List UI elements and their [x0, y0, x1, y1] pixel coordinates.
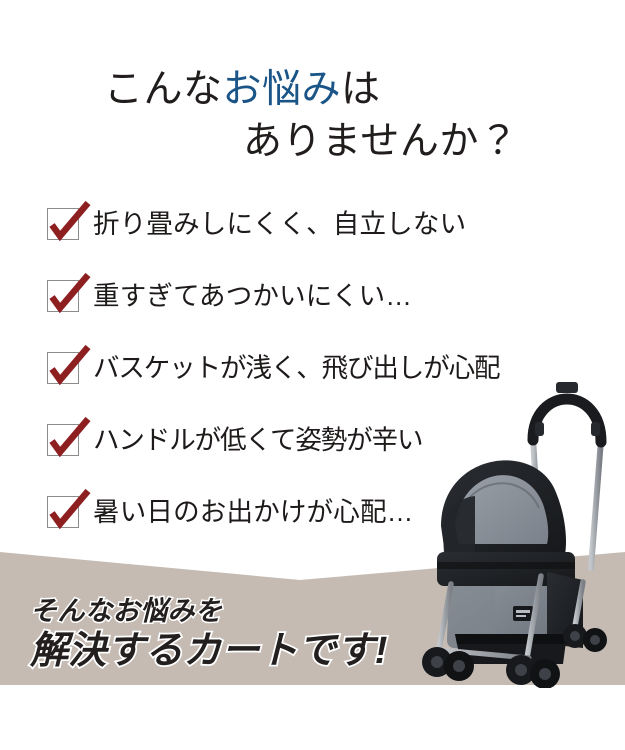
page-headline: こんなお悩みは ありませんか？ [0, 64, 625, 184]
checked-checkbox-icon [47, 280, 79, 312]
headline-line1-post: は [341, 68, 381, 111]
promo-page: こんなお悩みは ありませんか？ 折り畳みしにくく、自立しない 重すぎてあつかいに… [0, 0, 625, 750]
checklist-item-label: 重すぎてあつかいにくい… [93, 281, 412, 311]
checklist-item: 折り畳みしにくく、自立しない [0, 188, 625, 260]
pet-stroller-photo [415, 358, 625, 688]
checked-checkbox-icon [47, 352, 79, 384]
checked-checkbox-icon [47, 208, 79, 240]
checklist-item-label: 折り畳みしにくく、自立しない [93, 209, 466, 239]
checklist-item-label: 暑い日のお出かけが心配… [93, 497, 413, 527]
checklist-item: 重すぎてあつかいにくい… [0, 260, 625, 332]
banner-text-block: そんなお悩みを 解決するカートです! [30, 596, 388, 673]
banner-big-text: 解決するカートです! [30, 629, 388, 673]
headline-line1-pre: こんな [104, 68, 223, 111]
headline-line-2: ありませんか？ [0, 116, 625, 168]
checked-checkbox-icon [47, 496, 79, 528]
headline-line-1: こんなお悩みは [0, 64, 625, 116]
headline-accent-text: お悩み [223, 68, 342, 111]
checked-checkbox-icon [47, 424, 79, 456]
banner-small-text: そんなお悩みを [30, 596, 388, 627]
checklist-item-label: ハンドルが低くて姿勢が辛い [93, 425, 422, 455]
